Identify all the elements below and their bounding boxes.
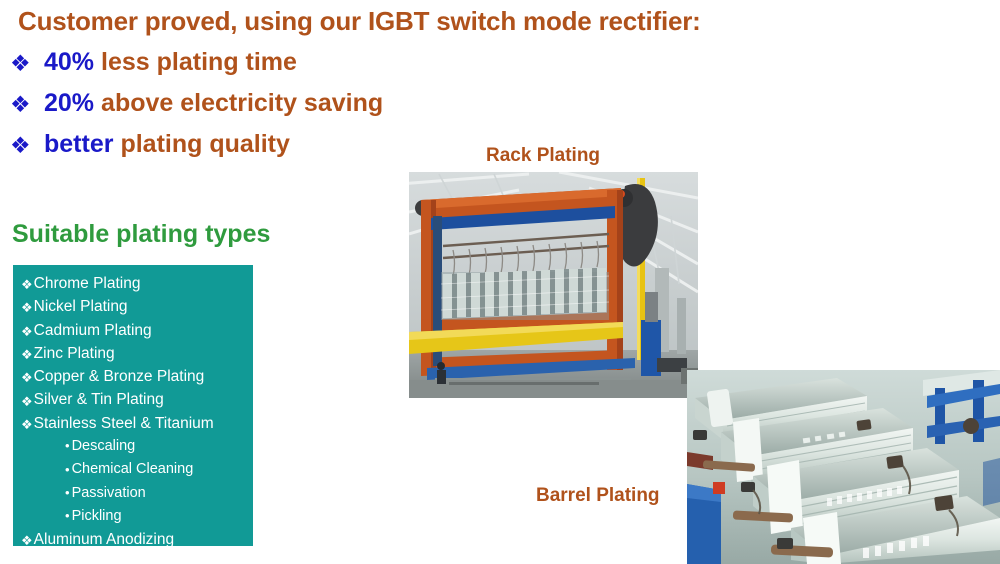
list-item-label: Stainless Steel & Titanium [34, 412, 214, 435]
section-heading-suitable-plating-types: Suitable plating types [12, 220, 270, 249]
list-item-label: Chemical Cleaning [72, 458, 194, 481]
benefit-key: 40% [44, 48, 94, 77]
list-item: • Descaling [21, 435, 249, 458]
dot-bullet-icon: • [65, 463, 70, 476]
dot-bullet-icon: • [65, 439, 70, 452]
list-item: • Passivation [21, 482, 249, 505]
diamond-bullet-icon: ❖ [21, 534, 33, 547]
rack-plating-illustration [409, 172, 698, 398]
list-item: ❖ Cadmium Plating [21, 319, 249, 342]
list-item-label: Chrome Plating [34, 272, 141, 295]
list-item: ❖ Zinc Plating [21, 342, 249, 365]
benefit-text: above electricity saving [101, 89, 383, 118]
barrel-plating-illustration [687, 370, 1000, 564]
list-item-label: Cadmium Plating [34, 319, 152, 342]
diamond-bullet-icon: ❖ [21, 325, 33, 338]
list-item: ❖ Silver & Tin Plating [21, 388, 249, 411]
barrel-plating-caption: Barrel Plating [536, 485, 660, 507]
benefit-item: ❖ 40% less plating time [10, 48, 480, 84]
diamond-bullet-icon: ❖ [21, 395, 33, 408]
benefit-key: 20% [44, 89, 94, 118]
list-item: ❖ Chrome Plating [21, 272, 249, 295]
diamond-bullet-icon: ❖ [10, 52, 44, 75]
page-title: Customer proved, using our IGBT switch m… [18, 6, 701, 37]
list-item: ❖ Copper & Bronze Plating [21, 365, 249, 388]
benefits-list: ❖ 40% less plating time ❖ 20% above elec… [10, 48, 480, 171]
list-item-label: Zinc Plating [34, 342, 115, 365]
barrel-plating-photo [687, 370, 1000, 564]
diamond-bullet-icon: ❖ [21, 278, 33, 291]
list-item-label: Pickling [72, 505, 122, 528]
diamond-bullet-icon: ❖ [10, 93, 44, 116]
diamond-bullet-icon: ❖ [21, 418, 33, 431]
list-item-label: Nickel Plating [34, 295, 128, 318]
rack-plating-photo [409, 172, 698, 398]
list-item-label: Aluminum Anodizing [34, 528, 174, 551]
dot-bullet-icon: • [65, 509, 70, 522]
list-item: ❖ Stainless Steel & Titanium [21, 412, 249, 435]
benefit-item: ❖ better plating quality [10, 130, 480, 166]
list-item: ❖ Aluminum Anodizing [21, 528, 249, 551]
list-item: • Pickling [21, 505, 249, 528]
list-item-label: Silver & Tin Plating [34, 388, 164, 411]
benefit-text: less plating time [101, 48, 297, 77]
list-item: ❖ Nickel Plating [21, 295, 249, 318]
rack-plating-caption: Rack Plating [486, 145, 600, 167]
diamond-bullet-icon: ❖ [10, 134, 44, 157]
benefit-item: ❖ 20% above electricity saving [10, 89, 480, 125]
plating-types-panel: ❖ Chrome Plating ❖ Nickel Plating ❖ Cadm… [13, 265, 253, 546]
benefit-text: plating quality [120, 130, 289, 159]
diamond-bullet-icon: ❖ [21, 371, 33, 384]
diamond-bullet-icon: ❖ [21, 348, 33, 361]
diamond-bullet-icon: ❖ [21, 301, 33, 314]
benefit-key: better [44, 130, 113, 159]
list-item-label: Descaling [72, 435, 136, 458]
dot-bullet-icon: • [65, 486, 70, 499]
list-item: • Chemical Cleaning [21, 458, 249, 481]
list-item-label: Copper & Bronze Plating [34, 365, 205, 388]
list-item-label: Passivation [72, 482, 146, 505]
